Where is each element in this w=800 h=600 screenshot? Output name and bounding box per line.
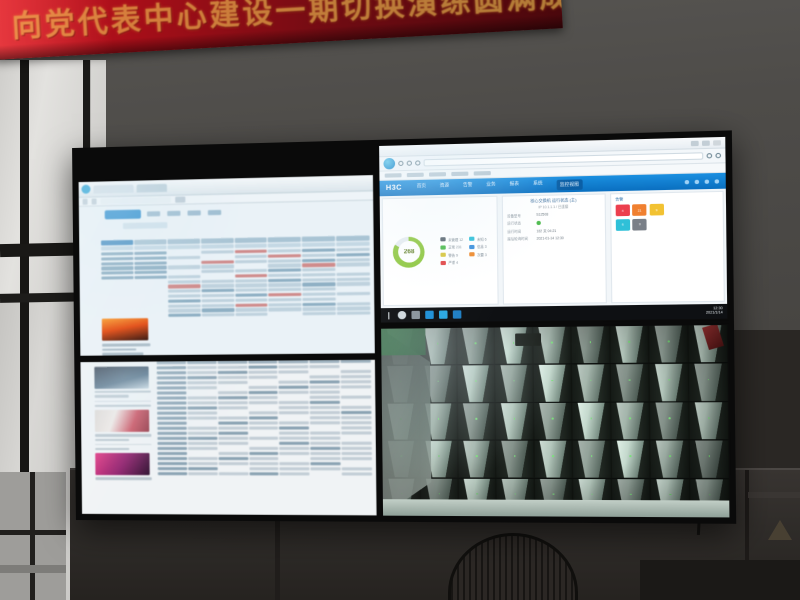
equipment-box <box>515 333 541 346</box>
col-time <box>310 360 340 363</box>
legend-label: 未知 6 <box>477 236 487 241</box>
info-row: 设备型号S12508 <box>507 211 600 218</box>
h3c-dashboard-screen: H3C 首页 资源 告警 业务 报表 系统 监控视图 <box>379 137 727 323</box>
explorer-icon[interactable] <box>439 310 448 318</box>
server-rack <box>457 328 494 365</box>
divider <box>95 444 151 445</box>
col-status <box>341 360 371 364</box>
datacenter-floor <box>383 499 730 517</box>
server-rack <box>495 365 533 402</box>
table-row[interactable] <box>157 401 371 405</box>
finance-page-body <box>79 201 375 356</box>
display-panel-top-right[interactable]: H3C 首页 资源 告警 业务 报表 系统 监控视图 <box>377 135 730 325</box>
news-headline[interactable] <box>95 434 151 436</box>
start-button[interactable] <box>385 312 392 319</box>
legend-item: 信息 3 <box>469 244 486 249</box>
nav-item-home[interactable] <box>147 211 160 216</box>
video-wall: H3C 首页 资源 告警 业务 报表 系统 监控视图 <box>72 130 736 523</box>
table-row[interactable] <box>158 462 372 465</box>
server-rack <box>650 364 689 401</box>
legend-swatch <box>441 253 446 257</box>
tile-critical[interactable]: 4 <box>615 204 629 216</box>
col-change <box>201 238 234 244</box>
table-row[interactable] <box>157 385 371 389</box>
sub-col <box>201 244 234 249</box>
server-rack <box>690 440 729 477</box>
rack-status-led <box>476 455 478 457</box>
display-panel-bottom-left[interactable] <box>78 358 379 518</box>
legend-swatch <box>441 237 446 241</box>
col-change <box>248 360 278 363</box>
alarm-tiles-title: 告警 <box>615 195 718 202</box>
col-name <box>187 361 216 364</box>
col-last <box>167 239 199 245</box>
table-row[interactable] <box>158 447 372 450</box>
browser-tab[interactable] <box>93 184 133 193</box>
rack-row <box>381 364 728 404</box>
search-icon[interactable] <box>398 311 407 319</box>
server-rack <box>457 365 494 402</box>
finance-portal-screen <box>78 175 375 356</box>
news-headline[interactable] <box>95 395 129 398</box>
data-table <box>157 360 373 478</box>
server-rack <box>651 441 690 478</box>
legend-swatch <box>441 245 446 249</box>
info-row: 运行时间182 天 04:21 <box>507 227 600 234</box>
device-gauge-card: 268 未管理 12 正常 231 警告 9 严重 4 未 <box>382 196 499 306</box>
nav-item-data[interactable] <box>208 210 221 215</box>
rack-status-led <box>629 341 631 343</box>
news-thumbnail-scene[interactable] <box>94 366 149 388</box>
col-turnover <box>336 235 369 241</box>
tile-warning[interactable]: 6 <box>616 219 630 231</box>
clock-date: 2021/1/14 <box>706 311 723 315</box>
go-icon[interactable] <box>175 197 185 203</box>
bookmark-icon[interactable] <box>707 153 713 158</box>
table-row[interactable] <box>157 436 371 440</box>
rack-status-led <box>708 417 710 419</box>
datacenter-rack-rows <box>381 325 729 517</box>
table-row[interactable] <box>157 406 371 410</box>
back-icon[interactable] <box>83 199 88 205</box>
display-panel-top-left[interactable] <box>76 173 377 358</box>
server-rack <box>650 402 689 439</box>
table-row[interactable] <box>157 395 371 399</box>
info-card-subtitle: IP 10.1.1.1 / 已连接 <box>507 204 600 211</box>
bookmark-item[interactable] <box>407 173 424 178</box>
menu-item-alarm[interactable]: 告警 <box>463 181 472 192</box>
news-headline[interactable] <box>102 348 136 351</box>
server-rack <box>610 326 648 363</box>
browser-logo-icon <box>81 185 90 194</box>
server-rack <box>496 441 534 478</box>
server-rack <box>573 441 611 478</box>
app-toolbar-icons[interactable] <box>685 179 719 184</box>
rack-row <box>381 325 728 366</box>
news-headline[interactable] <box>102 343 150 346</box>
table-row[interactable] <box>158 472 372 476</box>
rack-status-led <box>552 417 554 419</box>
legend-column-left: 未管理 12 正常 231 警告 9 严重 4 <box>441 236 464 265</box>
status-dot-online <box>536 221 540 225</box>
minimize-button[interactable] <box>691 140 699 145</box>
device-total-donut: 268 <box>393 236 425 267</box>
news-thumbnail-sunset[interactable] <box>102 318 148 341</box>
info-value: 2021-01-14 12:30 <box>537 236 564 241</box>
legend-swatch <box>469 237 474 241</box>
help-icon[interactable] <box>685 179 689 183</box>
table-row[interactable] <box>157 426 371 430</box>
alarm-tiles[interactable]: 4 21 9 6 3 <box>615 204 666 231</box>
sub-col <box>167 245 199 250</box>
menu-item-home[interactable]: 首页 <box>417 182 426 193</box>
table-row[interactable] <box>157 390 371 394</box>
gauge-legend: 未管理 12 正常 231 警告 9 严重 4 未知 6 信息 3 次要 3 <box>441 236 487 266</box>
rack-status-led <box>669 455 671 457</box>
rack-status-led <box>552 455 554 457</box>
bookmark-item[interactable] <box>385 173 402 178</box>
table-row[interactable] <box>158 452 372 455</box>
col-ratio <box>279 360 309 363</box>
legend-swatch <box>469 245 474 249</box>
table-row[interactable] <box>157 441 371 444</box>
legend-label: 警告 9 <box>448 252 458 257</box>
legend-item: 次要 3 <box>470 252 487 257</box>
reload-icon[interactable] <box>415 160 420 165</box>
col-amount <box>302 236 335 242</box>
warning-triangle-icon <box>768 520 792 540</box>
device-total-value: 268 <box>404 249 415 255</box>
info-label: 运行时间 <box>507 228 533 234</box>
close-button[interactable] <box>713 140 721 145</box>
rack-status-led <box>629 379 631 381</box>
server-rack <box>534 403 572 440</box>
forward-icon[interactable] <box>407 161 412 166</box>
sub-col <box>336 242 369 247</box>
server-rack <box>533 365 571 402</box>
rack-status-led <box>708 455 710 457</box>
info-value: S12508 <box>536 213 548 217</box>
table-row[interactable] <box>157 416 371 420</box>
server-rack <box>611 364 649 401</box>
legend-label: 次要 3 <box>477 252 487 257</box>
forward-icon[interactable] <box>92 198 97 204</box>
news-headline[interactable] <box>102 353 143 356</box>
table-row[interactable] <box>158 457 372 460</box>
col-volume <box>268 237 301 243</box>
site-nav[interactable] <box>147 210 221 217</box>
window-mullion-horizontal <box>0 530 66 535</box>
table-header-row <box>157 360 371 365</box>
news-headline[interactable] <box>95 404 151 407</box>
server-rack <box>572 403 610 440</box>
rack-status-led <box>668 341 670 343</box>
sub-col <box>101 246 133 251</box>
bookmark-item[interactable] <box>429 172 446 177</box>
rack-status-led <box>668 379 670 381</box>
server-rack <box>612 441 650 478</box>
legend-item: 正常 231 <box>441 244 463 250</box>
app-icon[interactable] <box>453 310 462 318</box>
col-code <box>101 240 133 246</box>
news-portal-screen <box>80 360 376 516</box>
h3c-brand-logo: H3C <box>386 184 402 192</box>
rack-status-led <box>475 380 477 382</box>
table-row[interactable] <box>157 370 371 375</box>
bookmark-item[interactable] <box>451 172 468 177</box>
col-index <box>157 361 186 364</box>
alarm-tiles-card: 告警 4 21 9 6 3 <box>610 191 725 303</box>
legend-label: 信息 3 <box>477 244 487 249</box>
news-headline[interactable] <box>95 448 129 450</box>
rack-status-led <box>475 418 477 420</box>
legend-label: 严重 4 <box>448 260 458 265</box>
display-panel-bottom-right[interactable] <box>379 323 732 520</box>
legend-item: 严重 4 <box>441 260 463 266</box>
rack-status-led <box>437 343 439 345</box>
rack-status-led <box>669 417 671 419</box>
table-row[interactable] <box>158 467 372 471</box>
rack-row <box>382 440 729 478</box>
news-thumbnail-people[interactable] <box>95 410 150 432</box>
server-rack <box>689 402 728 439</box>
cabinet-top <box>748 492 800 498</box>
server-rack <box>689 364 728 402</box>
divider <box>95 400 151 401</box>
window-mullion-vertical <box>30 472 35 600</box>
news-sidebar <box>102 318 151 356</box>
logout-icon[interactable] <box>715 179 719 183</box>
news-headline[interactable] <box>95 391 151 394</box>
site-logo <box>105 210 141 220</box>
sub-col <box>234 243 267 248</box>
settings-icon[interactable] <box>695 179 699 183</box>
info-row: 最后轮询时间2021-01-14 12:30 <box>507 234 600 241</box>
green-panel <box>381 328 426 355</box>
cctv-datacenter-screen <box>381 325 729 517</box>
menu-item-resource[interactable]: 资源 <box>440 182 449 193</box>
server-rack <box>611 402 649 439</box>
legend-label: 未管理 12 <box>448 236 463 241</box>
legend-swatch <box>441 261 446 265</box>
rack-status-led <box>630 455 632 457</box>
server-rack <box>572 364 610 401</box>
sub-col <box>302 242 335 247</box>
col-value <box>217 361 247 364</box>
windows-taskbar[interactable]: 12:30 2021/1/14 <box>381 304 727 323</box>
news-headline[interactable] <box>95 438 129 440</box>
rack-status-led <box>475 342 477 344</box>
legend-swatch <box>470 252 475 256</box>
address-bar[interactable] <box>101 197 172 205</box>
info-value: 182 天 04:21 <box>536 227 556 233</box>
browser-logo-icon <box>383 158 395 170</box>
menu-item-service[interactable]: 业务 <box>486 181 496 192</box>
info-label: 设备型号 <box>507 213 533 219</box>
news-column <box>94 363 152 482</box>
menu-item-report[interactable]: 报表 <box>510 180 520 191</box>
browser-icon[interactable] <box>425 311 434 319</box>
legend-label: 正常 231 <box>448 244 461 249</box>
server-rack <box>458 441 495 478</box>
server-rack <box>458 403 495 440</box>
taskbar-clock[interactable]: 12:30 2021/1/14 <box>706 307 723 315</box>
server-rack <box>534 441 572 478</box>
menu-item-monitor-view[interactable]: 监控视图 <box>557 179 583 190</box>
tile-minor[interactable]: 9 <box>649 204 663 216</box>
browser-tab-2[interactable] <box>137 183 167 192</box>
maximize-button[interactable] <box>702 140 710 145</box>
legend-item: 警告 9 <box>441 252 463 258</box>
rack-status-led <box>551 342 553 344</box>
floor-area <box>640 560 800 600</box>
sub-col <box>268 243 301 248</box>
news-thumbnail-promo[interactable] <box>95 453 150 475</box>
table-row[interactable] <box>157 380 371 385</box>
menu-item-system[interactable]: 系统 <box>533 180 543 191</box>
user-icon[interactable] <box>705 179 709 183</box>
control-room-scene: 向党代表中心建设一期切换演练圆满成功！ <box>0 0 800 600</box>
info-label: 最后轮询时间 <box>507 236 533 242</box>
server-rack <box>649 325 688 363</box>
bookmark-item[interactable] <box>474 171 491 176</box>
tile-unknown[interactable]: 3 <box>633 218 647 230</box>
quotes-table <box>101 235 370 319</box>
server-rack <box>496 403 534 440</box>
menu-icon[interactable] <box>715 153 721 158</box>
search-input[interactable] <box>123 222 167 229</box>
rack-status-led <box>552 380 554 382</box>
nav-item-quotes[interactable] <box>167 211 180 216</box>
sub-col <box>134 245 166 250</box>
task-view-icon[interactable] <box>411 311 420 319</box>
window-sill <box>0 565 66 573</box>
col-pct <box>234 237 267 243</box>
server-rack <box>572 326 610 363</box>
table-row[interactable] <box>157 375 371 380</box>
back-icon[interactable] <box>398 161 403 166</box>
legend-item: 未管理 12 <box>441 236 463 242</box>
info-label: 运行状态 <box>507 220 533 226</box>
legend-column-right: 未知 6 信息 3 次要 3 <box>469 236 486 265</box>
table-row[interactable] <box>157 421 371 425</box>
rack-row <box>382 402 729 441</box>
rack-status-led <box>629 417 631 419</box>
tile-major[interactable]: 21 <box>632 204 646 216</box>
info-row: 运行状态 <box>507 219 600 226</box>
nav-item-news[interactable] <box>187 210 200 215</box>
rack-status-led <box>438 418 440 420</box>
legend-item: 未知 6 <box>469 236 486 241</box>
dashboard-top-row: 268 未管理 12 正常 231 警告 9 严重 4 未 <box>380 189 727 309</box>
table-row[interactable] <box>157 365 371 370</box>
col-name <box>134 239 166 245</box>
table-row[interactable] <box>157 411 371 415</box>
table-row[interactable] <box>157 431 371 435</box>
news-headline[interactable] <box>95 477 151 480</box>
device-info-card: 核心交换机 运行状态 (主) IP 10.1.1.1 / 已连接 设备型号S12… <box>502 193 607 304</box>
